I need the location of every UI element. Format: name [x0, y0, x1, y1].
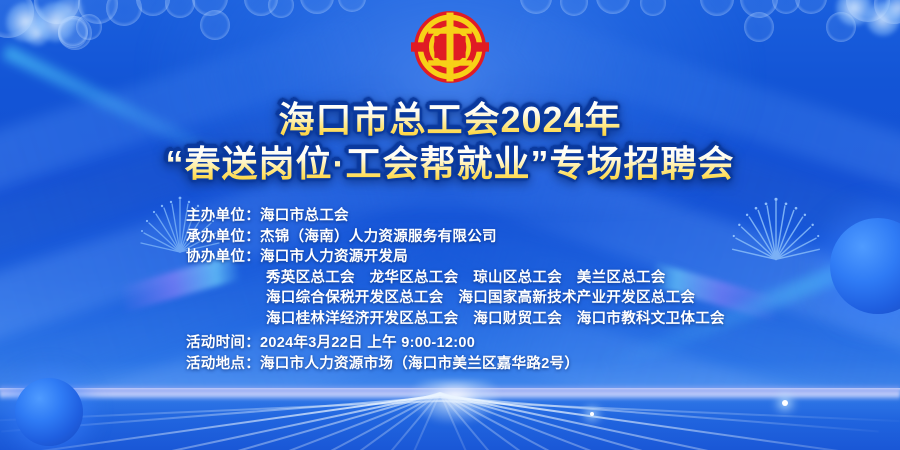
speed-line [324, 392, 441, 450]
bokeh-circle [58, 16, 92, 50]
bokeh-circle [836, 0, 872, 26]
speed-line [440, 392, 732, 450]
bokeh-circle [58, 18, 88, 48]
host-label: 承办单位： [186, 229, 260, 245]
speed-line [439, 392, 651, 450]
bokeh-circle [560, 0, 588, 16]
bokeh-circle [24, 20, 50, 46]
speed-line [440, 394, 900, 450]
event-location-label: 活动地点： [186, 356, 260, 372]
speed-line [440, 392, 814, 450]
speed-line [439, 392, 556, 450]
bokeh-circle [700, 0, 734, 16]
bokeh-circle [866, 2, 900, 36]
bokeh-circle [78, 0, 118, 24]
speed-line [66, 392, 440, 450]
light-spark [590, 412, 594, 416]
speed-line [0, 394, 440, 450]
bokeh-circle [846, 0, 890, 22]
event-info-block: 主办单位：海口市总工会 承办单位：杰锦（海南）人力资源服务有限公司 协办单位：海… [186, 206, 725, 374]
event-location-row: 活动地点：海口市人力资源市场（海口市美兰区嘉华路2号） [186, 354, 725, 375]
bokeh-circle [268, 0, 294, 18]
co-organizer-list-item: 海口桂林洋经济开发区总工会 海口财贸工会 海口市教科文卫体工会 [266, 311, 725, 327]
bokeh-circle [192, 0, 228, 16]
event-time-value: 2024年3月22日 上午 9:00-12:00 [260, 335, 475, 351]
co-organizer-value: 海口市人力资源开发局 [260, 249, 408, 265]
co-organizer-list-row: 海口综合保税开发区总工会 海口国家高新技术产业开发区总工会 [186, 288, 725, 309]
bokeh-circle [826, 12, 856, 42]
host-value: 杰锦（海南）人力资源服务有限公司 [260, 229, 497, 245]
bokeh-circle [772, 0, 800, 14]
bokeh-circle [795, 0, 827, 14]
page-title-line1: 海口市总工会2024年 [0, 100, 900, 140]
event-time-row: 活动时间：2024年3月22日 上午 9:00-12:00 [186, 333, 725, 354]
organizer-value: 海口市总工会 [260, 208, 349, 224]
organizer-row: 主办单位：海口市总工会 [186, 206, 725, 227]
event-location-value: 海口市人力资源市场（海口市美兰区嘉华路2号） [260, 356, 579, 372]
speed-line [0, 400, 440, 422]
speed-line [440, 392, 844, 450]
bokeh-circle [744, 12, 774, 42]
glow-sphere-left [15, 378, 83, 446]
speed-line [440, 400, 900, 422]
bokeh-circle [740, 0, 778, 18]
bokeh-circle [58, 16, 88, 46]
speed-line [440, 393, 881, 450]
horizon-glow [0, 384, 900, 400]
bokeh-circle [300, 0, 334, 14]
recruitment-fair-banner: 海口市总工会2024年 “春送岗位·工会帮就业”专场招聘会 主办单位：海口市总工… [0, 0, 900, 450]
bokeh-circle [244, 0, 278, 16]
speed-line [439, 393, 490, 450]
light-spark [782, 400, 788, 406]
co-organizer-list-item: 秀英区总工会 龙华区总工会 琼山区总工会 美兰区总工会 [266, 270, 666, 286]
bokeh-circle [54, 0, 84, 26]
schedule-block: 活动时间：2024年3月22日 上午 9:00-12:00 活动地点：海口市人力… [186, 333, 725, 374]
bokeh-circle [874, 0, 900, 24]
bokeh-circle [520, 0, 552, 14]
speed-line [36, 392, 440, 450]
page-title-line2: “春送岗位·工会帮就业”专场招聘会 [0, 144, 900, 184]
bokeh-circle [36, 2, 76, 42]
vanishing-point-glow [410, 380, 500, 424]
bokeh-circle [106, 0, 142, 26]
bokeh-circle [338, 0, 366, 12]
glow-sphere-right [830, 218, 900, 314]
perspective-speed-lines [0, 390, 900, 450]
ground-plane [0, 388, 900, 450]
firework-burst-icon [728, 186, 824, 266]
bokeh-circle [34, 0, 80, 24]
speed-line [440, 396, 879, 433]
speed-line [229, 392, 441, 450]
bokeh-circle [200, 10, 230, 40]
organizer-label: 主办单位： [186, 208, 260, 224]
co-organizer-list-row: 秀英区总工会 龙华区总工会 琼山区总工会 美兰区总工会 [186, 268, 725, 289]
bokeh-circle [884, 0, 900, 22]
co-organizer-list-item: 海口综合保税开发区总工会 海口国家高新技术产业开发区总工会 [266, 290, 695, 306]
bokeh-circle [76, 14, 102, 40]
speed-line [1, 396, 440, 433]
speed-line [390, 393, 441, 450]
co-organizer-label: 协办单位： [186, 249, 260, 265]
event-time-label: 活动时间： [186, 335, 260, 351]
acftu-union-emblem-logo [411, 8, 489, 86]
speed-line [0, 393, 440, 450]
bokeh-circle [136, 0, 170, 16]
host-row: 承办单位：杰锦（海南）人力资源服务有限公司 [186, 227, 725, 248]
speed-line [148, 392, 440, 450]
co-organizer-row: 协办单位：海口市人力资源开发局 [186, 247, 725, 268]
bokeh-circle [0, 0, 34, 38]
bokeh-circle [640, 0, 666, 16]
co-organizer-list-row: 海口桂林洋经济开发区总工会 海口财贸工会 海口市教科文卫体工会 [186, 309, 725, 330]
title-block: 海口市总工会2024年 “春送岗位·工会帮就业”专场招聘会 [0, 100, 900, 185]
bokeh-circle [596, 0, 630, 14]
bokeh-circle [6, 2, 46, 42]
bokeh-circle [165, 0, 195, 18]
